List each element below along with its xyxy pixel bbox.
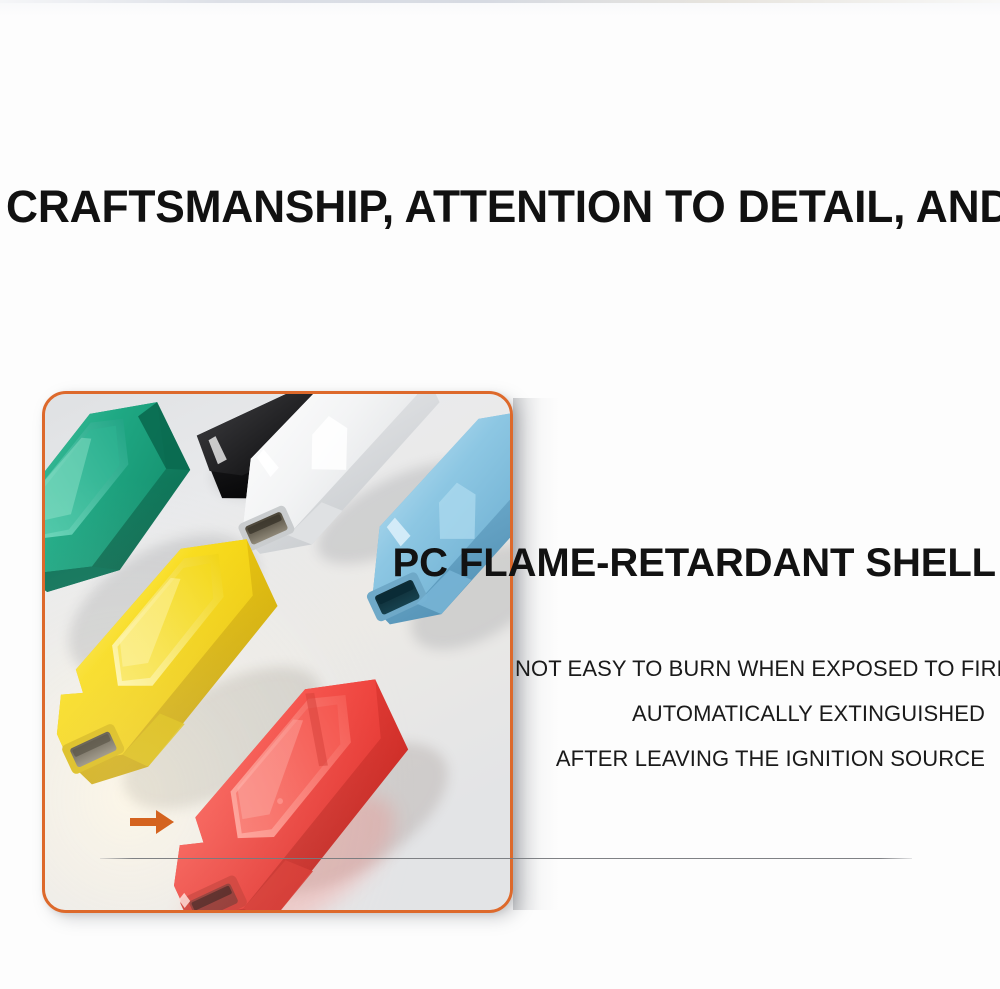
feature-title: PC FLAME-RETARDANT SHELL bbox=[393, 541, 996, 585]
benefit-line: AFTER LEAVING THE IGNITION SOURCE bbox=[515, 736, 985, 781]
baseline-rule bbox=[100, 858, 912, 859]
benefit-line: NOT EASY TO BURN WHEN EXPOSED TO FIRE bbox=[515, 646, 985, 691]
product-feature-slide: CRAFTSMANSHIP, ATTENTION TO DETAIL, AND … bbox=[0, 0, 1000, 989]
callout-arrow-icon bbox=[128, 806, 176, 838]
connectors-photo-illustration bbox=[45, 394, 510, 910]
page-title: CRAFTSMANSHIP, ATTENTION TO DETAIL, AND … bbox=[6, 182, 961, 232]
feature-benefit-list: NOT EASY TO BURN WHEN EXPOSED TO FIRE AU… bbox=[515, 646, 985, 781]
product-photo-frame bbox=[42, 391, 513, 913]
top-edge-hairline bbox=[0, 0, 1000, 3]
product-photo bbox=[45, 394, 510, 910]
benefit-line: AUTOMATICALLY EXTINGUISHED bbox=[515, 691, 985, 736]
